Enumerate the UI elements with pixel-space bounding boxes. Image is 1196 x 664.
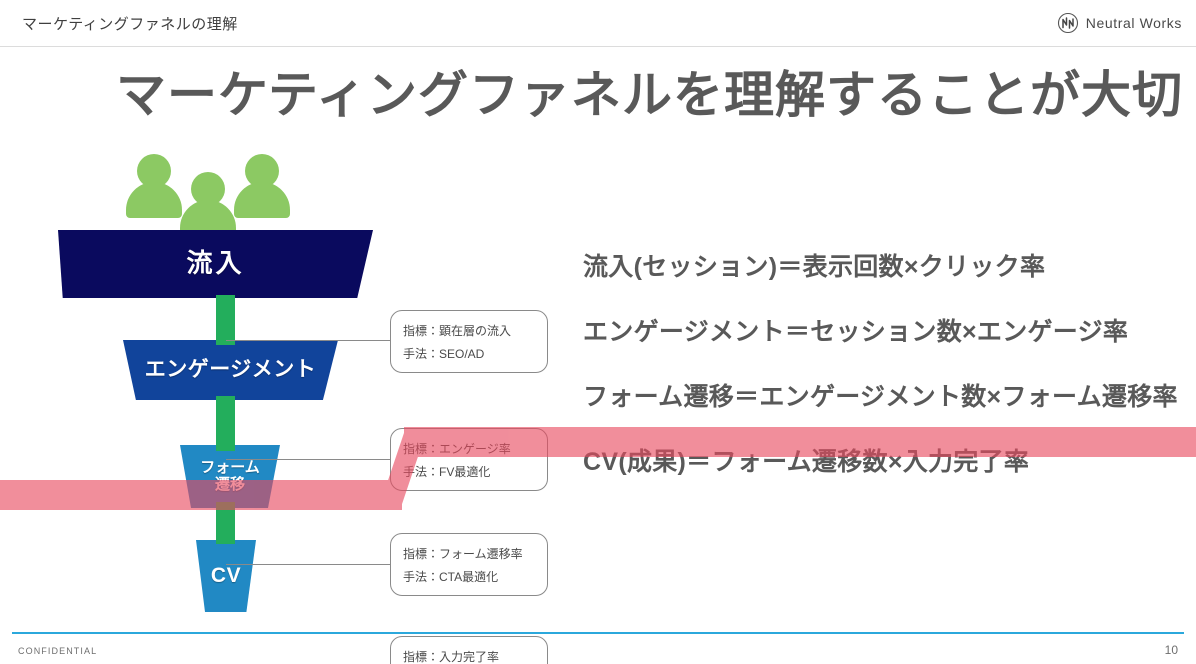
funnel-stage-cv[interactable]: CV — [196, 540, 256, 612]
funnel-connector — [216, 396, 235, 451]
brand-name: Neutral Works — [1086, 15, 1182, 31]
callout-method: 手法：CTA最適化 — [403, 566, 547, 589]
funnel-stage-label: CV — [211, 564, 241, 588]
confidential-label: CONFIDENTIAL — [18, 646, 97, 656]
callout-method: 手法：SEO/AD — [403, 343, 547, 366]
slide: マーケティングファネルの理解 Neutral Works マーケティングファネル… — [0, 0, 1196, 664]
funnel-stage-label: エンゲージメント — [145, 358, 317, 382]
callout-method: 手法：FV最適化 — [403, 461, 547, 484]
neutral-works-logo-icon — [1056, 11, 1080, 35]
funnel-stage-form-transition[interactable]: フォーム 遷移 — [180, 445, 280, 508]
formula-form-transition: フォーム遷移＝エンゲージメント数×フォーム遷移率 — [583, 385, 1196, 410]
callout-form-transition: 指標：フォーム遷移率 手法：CTA最適化 — [390, 533, 548, 596]
footer-divider — [12, 632, 1184, 634]
callout-inflow: 指標：顕在層の流入 手法：SEO/AD — [390, 310, 548, 373]
callout-leader-line — [226, 340, 391, 341]
formula-list: 流入(セッション)＝表示回数×クリック率 エンゲージメント＝セッション数×エンゲ… — [583, 255, 1196, 475]
callout-metric: 指標：フォーム遷移率 — [403, 543, 547, 566]
formula-engagement: エンゲージメント＝セッション数×エンゲージ率 — [583, 320, 1196, 345]
funnel-stage-label: フォーム 遷移 — [200, 460, 260, 494]
brand-logo: Neutral Works — [1056, 11, 1182, 35]
header-title: マーケティングファネルの理解 — [22, 13, 238, 34]
person-body — [234, 182, 290, 218]
funnel-stage-label: 流入 — [186, 249, 244, 278]
person-icon — [126, 154, 182, 218]
person-body — [126, 182, 182, 218]
funnel-stage-inflow[interactable]: 流入 — [58, 230, 373, 298]
funnel-connector — [216, 295, 235, 345]
person-icon — [180, 172, 236, 236]
formula-cv: CV(成果)＝フォーム遷移数×入力完了率 — [583, 450, 1196, 475]
callout-metric: 指標：エンゲージ率 — [403, 438, 547, 461]
person-icon — [234, 154, 290, 218]
funnel-connector — [216, 502, 235, 544]
callout-metric: 指標：顕在層の流入 — [403, 320, 547, 343]
callout-leader-line — [226, 564, 391, 565]
formula-inflow: 流入(セッション)＝表示回数×クリック率 — [583, 255, 1196, 280]
page-title: マーケティングファネルを理解することが大切 — [116, 68, 1183, 123]
people-group-icon — [126, 150, 306, 218]
callout-cv: 指標：入力完了率 手法：フォーム最適化 — [390, 636, 548, 664]
funnel-stage-engagement[interactable]: エンゲージメント — [123, 340, 338, 400]
slide-header: マーケティングファネルの理解 Neutral Works — [0, 0, 1196, 47]
page-number: 10 — [1165, 643, 1178, 657]
header-divider — [0, 46, 1196, 47]
funnel-diagram: 流入 エンゲージメント フォーム 遷移 CV 指標：顕在層の流入 手法：SEO/… — [0, 140, 400, 620]
callout-engagement: 指標：エンゲージ率 手法：FV最適化 — [390, 428, 548, 491]
callout-metric: 指標：入力完了率 — [403, 646, 547, 664]
